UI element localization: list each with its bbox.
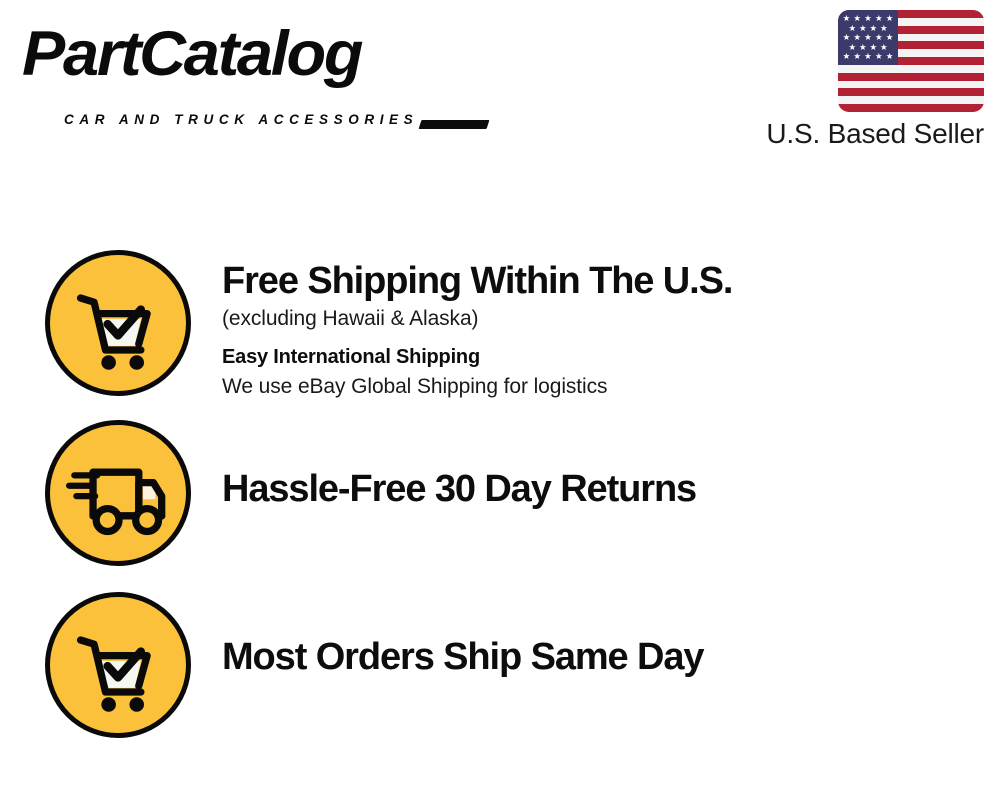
flag-stripe	[838, 65, 984, 73]
star-row: ★ ★ ★ ★ ★	[841, 52, 895, 61]
us-based-seller-label: U.S. Based Seller	[766, 118, 984, 150]
feature-row: Most Orders Ship Same Day	[0, 592, 1000, 758]
star-icon: ★	[853, 33, 861, 42]
brand-wordmark: PartCatalog	[22, 18, 361, 90]
star-row: ★ ★ ★ ★ ★	[841, 33, 895, 42]
flag-stripe	[838, 81, 984, 89]
star-icon: ★	[869, 24, 877, 33]
star-icon: ★	[843, 14, 851, 23]
star-icon: ★	[886, 14, 894, 23]
star-icon: ★	[864, 52, 872, 61]
flag-canton: ★ ★ ★ ★ ★ ★ ★ ★ ★ ★ ★ ★ ★ ★	[838, 10, 898, 65]
star-row: ★ ★ ★ ★ ★	[841, 14, 895, 23]
flag-stripe	[838, 96, 984, 104]
feature-row: Free Shipping Within The U.S. (excluding…	[0, 250, 1000, 420]
star-icon: ★	[859, 24, 867, 33]
delivery-truck-icon	[45, 420, 191, 566]
feature-text: Hassle-Free 30 Day Returns	[222, 466, 982, 512]
promo-banner: PartCatalog CAR AND TRUCK ACCESSORIES	[0, 0, 1000, 800]
feature-subtext-strong: Easy International Shipping	[222, 342, 982, 372]
flag-stripe	[838, 104, 984, 112]
star-icon: ★	[875, 14, 883, 23]
shopping-cart-check-icon	[45, 592, 191, 738]
star-icon: ★	[843, 33, 851, 42]
feature-heading: Most Orders Ship Same Day	[222, 634, 982, 680]
star-icon: ★	[843, 52, 851, 61]
flag-stripe	[838, 73, 984, 81]
flag-stripe	[838, 88, 984, 96]
brand-tagline: CAR AND TRUCK ACCESSORIES	[64, 112, 418, 127]
feature-text: Free Shipping Within The U.S. (excluding…	[222, 258, 982, 402]
star-icon: ★	[864, 14, 872, 23]
star-icon: ★	[853, 52, 861, 61]
star-icon: ★	[853, 14, 861, 23]
star-icon: ★	[880, 43, 888, 52]
feature-heading: Free Shipping Within The U.S.	[222, 258, 982, 304]
star-icon: ★	[848, 43, 856, 52]
star-icon: ★	[886, 52, 894, 61]
banner-header: PartCatalog CAR AND TRUCK ACCESSORIES	[0, 0, 1000, 170]
feature-heading: Hassle-Free 30 Day Returns	[222, 466, 982, 512]
brand-logo: PartCatalog CAR AND TRUCK ACCESSORIES	[22, 22, 492, 114]
star-icon: ★	[859, 43, 867, 52]
feature-subtext-detail: We use eBay Global Shipping for logistic…	[222, 372, 982, 402]
feature-row: Hassle-Free 30 Day Returns	[0, 420, 1000, 592]
star-icon: ★	[880, 24, 888, 33]
shopping-cart-check-icon	[45, 250, 191, 396]
star-icon: ★	[886, 33, 894, 42]
star-icon: ★	[864, 33, 872, 42]
feature-subtext: (excluding Hawaii & Alaska)	[222, 304, 982, 334]
feature-text: Most Orders Ship Same Day	[222, 634, 982, 680]
star-icon: ★	[848, 24, 856, 33]
us-flag-icon: ★ ★ ★ ★ ★ ★ ★ ★ ★ ★ ★ ★ ★ ★	[838, 10, 984, 112]
star-icon: ★	[869, 43, 877, 52]
star-icon: ★	[875, 33, 883, 42]
star-icon: ★	[875, 52, 883, 61]
logo-swoosh-accent	[419, 120, 490, 129]
